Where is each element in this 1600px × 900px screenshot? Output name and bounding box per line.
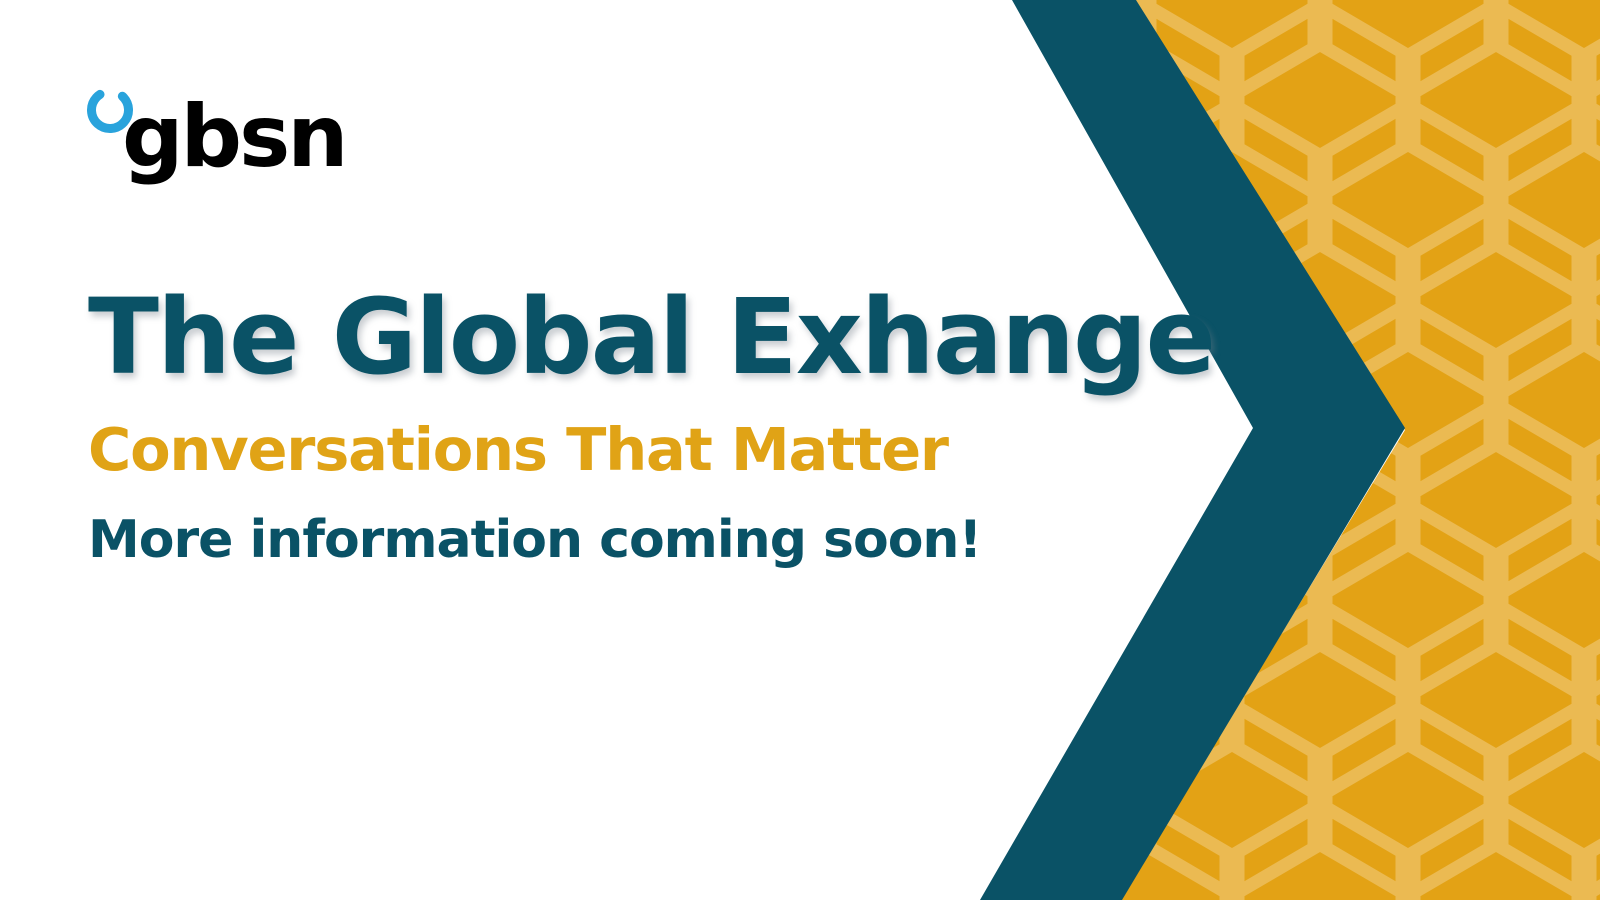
hero-subtitle: Conversations That Matter [88,418,1088,483]
gbsn-wordmark: gbsn [122,94,346,180]
page-title: The Global Exhange [88,282,1088,392]
hero-text-block: The Global Exhange Conversations That Ma… [88,282,1088,569]
gbsn-logo[interactable]: gbsn [84,84,414,196]
honeycomb-panel [1100,0,1600,900]
slide-canvas: gbsn The Global Exhange Conversations Th… [0,0,1600,900]
hero-tagline: More information coming soon! [88,512,1088,569]
